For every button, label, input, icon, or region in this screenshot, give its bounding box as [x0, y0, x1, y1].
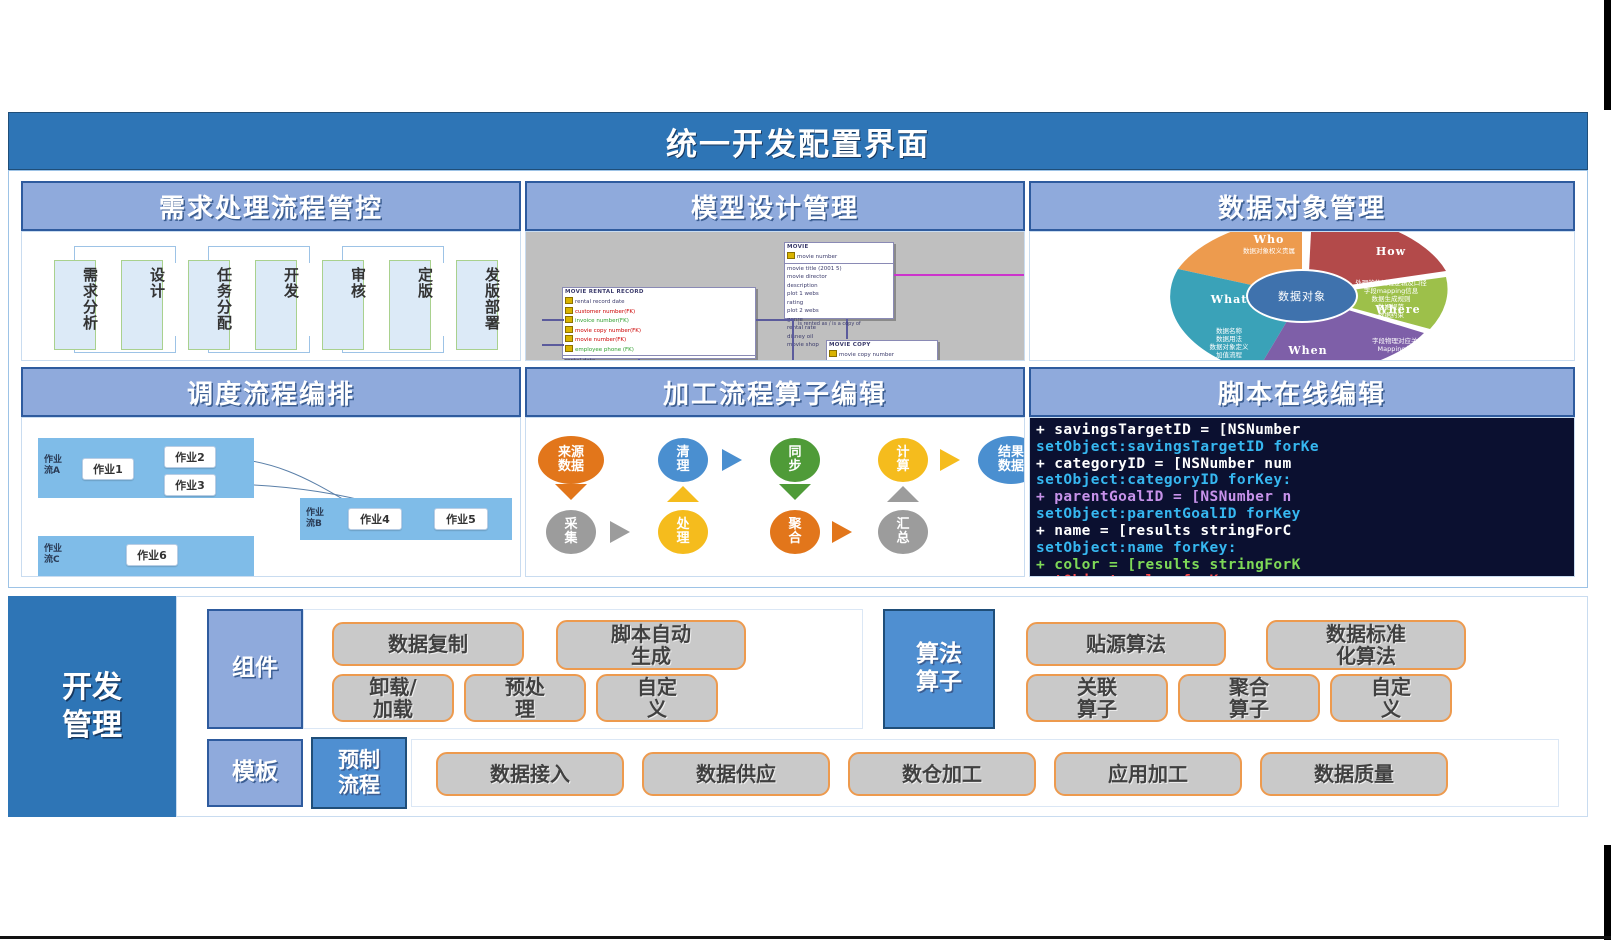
er-entity-movie-rental-record[interactable]: MOVIE RENTAL RECORD rental record date c… — [562, 287, 756, 359]
er-entity-1-field-1: movie director — [787, 273, 891, 282]
job-group-c-label: 作业 流C — [44, 544, 62, 566]
data-object-donut-chart[interactable]: Who 数据对象权义责属 What 数据名称 数据用法 数据对象定义 加值流程 … — [1030, 232, 1574, 360]
code-line-3: setObject:categoryID forKey: — [1036, 472, 1574, 489]
er-entity-movie-copy[interactable]: MOVIE COPY movie copy number movie numbe… — [826, 340, 938, 361]
chip-data-replication[interactable]: 数据复制 — [332, 622, 524, 666]
arrow-right-icon-collect-to-process — [610, 521, 630, 543]
panel-requirement-flow: 需求分析 设计 任务分配 开发 审核 定版 发版部署 — [21, 231, 521, 361]
flow-step-5[interactable]: 定版 — [389, 260, 431, 350]
arrow-down-icon-sync-to-aggregate — [779, 484, 811, 500]
er-entity-1-field-4: rating — [787, 299, 891, 308]
code-line-6: + name = [results stringForC — [1036, 523, 1574, 540]
er-entity-1-field-5: plot 2 webs — [787, 307, 891, 316]
flow-step-0-label: 需求分析 — [55, 267, 97, 331]
code-line-4: + parentGoalID = [NSNumber n — [1036, 489, 1574, 506]
development-management-body: 组件 数据复制 脚本自动 生成 卸载/ 加载 预处 理 自定 义 算法 算子 贴… — [176, 596, 1588, 817]
job-group-a[interactable] — [38, 438, 254, 498]
flow-step-3[interactable]: 开发 — [255, 260, 297, 350]
page-title-text: 统一开发配置界面 — [666, 119, 930, 164]
job-node-a-3[interactable]: 作业3 — [164, 474, 216, 496]
job-group-b-label: 作业 流B — [306, 508, 324, 530]
er-entity-0-key-5: employee phone (FK) — [575, 347, 634, 353]
arrow-up-icon-summary-to-compute — [887, 486, 919, 502]
er-entity-0-key-3: movie copy number(FK) — [575, 328, 641, 334]
flow-step-2[interactable]: 任务分配 — [188, 260, 230, 350]
key-icon — [565, 326, 573, 333]
donut-label-who-cn: 数据对象权义责属 — [1204, 247, 1334, 255]
er-entity-1-field-0: movie title (2001 5) — [787, 265, 891, 274]
key-icon — [565, 316, 573, 323]
operator-node-process[interactable]: 处 理 — [658, 510, 708, 554]
key-icon — [565, 335, 573, 342]
job-node-b-5[interactable]: 作业5 — [434, 508, 488, 530]
category-template[interactable]: 模板 — [207, 739, 303, 807]
chip-data-quality[interactable]: 数据质量 — [1260, 752, 1448, 796]
er-link-vertical-3 — [638, 359, 640, 361]
chip-application-processing[interactable]: 应用加工 — [1054, 752, 1242, 796]
chip-data-ingestion[interactable]: 数据接入 — [436, 752, 624, 796]
er-link-magenta — [894, 274, 1025, 276]
arrow-right-icon-compute-to-result — [940, 449, 960, 471]
panel-schedule-flow: 作业 流A 作业1 作业2 作业3 作业 流B 作业4 作业5 作业 流C 作业… — [21, 417, 521, 577]
panel-header-model-design[interactable]: 模型设计管理 — [525, 181, 1025, 231]
operator-node-clean[interactable]: 清 理 — [658, 438, 708, 482]
category-components-label: 组件 — [232, 655, 278, 683]
job-node-a-1[interactable]: 作业1 — [82, 458, 134, 480]
er-link-left-2 — [542, 344, 564, 346]
er-entity-1-name: MOVIE — [785, 243, 893, 251]
code-editor[interactable]: + savingsTargetID = [NSNumber setObject:… — [1030, 418, 1574, 576]
flow-step-3-label: 开发 — [256, 267, 298, 299]
chip-script-auto-generation[interactable]: 脚本自动 生成 — [556, 620, 746, 670]
panel-model-design: MOVIE RENTAL RECORD rental record date c… — [525, 231, 1025, 361]
algorithm-chip-area: 贴源算法 数据标准 化算法 关联 算子 聚合 算子 自定 义 — [995, 609, 1559, 729]
chip-custom-component[interactable]: 自定 义 — [596, 674, 718, 722]
chip-preprocess[interactable]: 预处 理 — [464, 674, 586, 722]
arrow-up-icon-process-to-clean — [667, 486, 699, 502]
er-link-right-1 — [756, 319, 794, 321]
job-node-a-2[interactable]: 作业2 — [164, 446, 216, 468]
panel-header-schedule-flow[interactable]: 调度流程编排 — [21, 367, 521, 417]
key-icon — [787, 252, 795, 259]
panel-header-model-design-label: 模型设计管理 — [691, 188, 859, 225]
category-algorithm-operators[interactable]: 算法 算子 — [883, 609, 995, 729]
development-management-section: 开发 管理 组件 数据复制 脚本自动 生成 卸载/ 加载 预处 理 自定 义 算… — [8, 596, 1588, 817]
donut-label-how-en: How — [1334, 245, 1448, 259]
flow-step-5-label: 定版 — [390, 267, 432, 299]
key-icon — [565, 297, 573, 304]
chip-source-algorithm[interactable]: 贴源算法 — [1026, 622, 1226, 666]
panel-operator-edit: 来源 数据 清 理 同 步 计 算 结果 数据 采 集 处 理 聚 合 汇 总 — [525, 417, 1025, 577]
code-line-0: + savingsTargetID = [NSNumber — [1036, 422, 1574, 439]
er-edge-label-1: is rented under / records rental of — [762, 360, 846, 361]
panel-header-requirement-flow[interactable]: 需求处理流程管控 — [21, 181, 521, 231]
key-icon — [565, 345, 573, 352]
development-management-label-text: 开发 管理 — [62, 669, 122, 744]
category-template-label: 模板 — [232, 759, 278, 787]
flow-step-4-label: 审核 — [323, 267, 365, 299]
key-icon — [829, 350, 837, 357]
er-entity-0-key-4: movie number(FK) — [575, 337, 626, 343]
flow-step-0[interactable]: 需求分析 — [54, 260, 96, 350]
flow-step-4[interactable]: 审核 — [322, 260, 364, 350]
er-entity-2-name: MOVIE COPY — [827, 341, 937, 349]
chip-data-supply[interactable]: 数据供应 — [642, 752, 830, 796]
panel-header-data-object-label: 数据对象管理 — [1218, 188, 1386, 225]
panel-script-editor: + savingsTargetID = [NSNumber setObject:… — [1029, 417, 1575, 577]
donut-label-when-en: When — [1260, 344, 1356, 358]
category-algorithm-operators-label: 算法 算子 — [916, 641, 962, 696]
category-components[interactable]: 组件 — [207, 609, 303, 729]
operator-node-result-data[interactable]: 结果 数据 — [978, 436, 1025, 484]
panel-header-operator-edit-label: 加工流程算子编辑 — [663, 374, 887, 411]
operator-node-summary[interactable]: 汇 总 — [878, 510, 928, 554]
donut-label-who: Who 数据对象权义责属 — [1204, 233, 1334, 255]
operator-node-source-data[interactable]: 来源 数据 — [538, 436, 604, 484]
flow-step-6-label: 发版部署 — [457, 267, 499, 331]
chip-aggregate-operator[interactable]: 聚合 算子 — [1178, 674, 1320, 722]
arrow-down-icon-source-to-collect — [555, 484, 587, 500]
chip-warehouse-processing[interactable]: 数仓加工 — [848, 752, 1036, 796]
er-entity-1-field-2: description — [787, 282, 891, 291]
components-chip-area: 数据复制 脚本自动 生成 卸载/ 加载 预处 理 自定 义 — [303, 609, 863, 729]
job-node-c-6[interactable]: 作业6 — [126, 544, 178, 566]
er-diagram[interactable]: MOVIE RENTAL RECORD rental record date c… — [526, 232, 1024, 360]
flow-step-6[interactable]: 发版部署 — [456, 260, 498, 350]
right-edge-black-bar-bottom — [1604, 845, 1611, 940]
er-entity-2-key-0: movie copy number — [839, 352, 894, 358]
panel-header-script-editor-label: 脚本在线编辑 — [1218, 374, 1386, 411]
panel-header-schedule-flow-label: 调度流程编排 — [187, 374, 355, 411]
code-line-5: setObject:parentGoalID forKey — [1036, 506, 1574, 523]
key-icon — [565, 307, 573, 314]
slide-deck: 统一开发配置界面 需求处理流程管控 模型设计管理 数据对象管理 需求分析 设计 — [8, 112, 1597, 817]
chip-data-standardization-algorithm[interactable]: 数据标准 化算法 — [1266, 620, 1466, 670]
er-entity-1-key-0: movie number — [797, 254, 837, 260]
er-link-vertical-1 — [792, 319, 794, 361]
er-entity-1-field-3: plot 1 webs — [787, 290, 891, 299]
arrow-right-icon-aggregate-to-summary — [832, 521, 852, 543]
bottom-edge-black-line — [0, 936, 1611, 939]
panel-data-object: Who 数据对象权义责属 What 数据名称 数据用法 数据对象定义 加值流程 … — [1029, 231, 1575, 361]
donut-center-label: 数据对象 — [1278, 288, 1326, 304]
er-entity-0-name: MOVIE RENTAL RECORD — [563, 288, 755, 296]
operator-node-collect[interactable]: 采 集 — [546, 510, 596, 554]
er-link-left-1 — [542, 319, 564, 321]
er-entity-0-key-1: customer number(FK) — [575, 309, 635, 315]
chip-custom-operator[interactable]: 自定 义 — [1330, 674, 1452, 722]
page-title: 统一开发配置界面 — [8, 112, 1588, 170]
chip-unload-load[interactable]: 卸载/ 加载 — [332, 674, 454, 722]
subcategory-preset-flow-label: 预制 流程 — [338, 748, 380, 798]
template-chip-area: 数据接入 数据供应 数仓加工 应用加工 数据质量 — [411, 739, 1559, 807]
panel-header-script-editor[interactable]: 脚本在线编辑 — [1029, 367, 1575, 417]
operator-node-aggregate[interactable]: 聚 合 — [770, 510, 820, 554]
development-management-label: 开发 管理 — [8, 596, 176, 817]
code-line-8: + color = [results stringForK — [1036, 557, 1574, 574]
er-edge-label-0: is rented as / is a copy of — [798, 321, 861, 329]
code-line-2: + categoryID = [NSNumber num — [1036, 456, 1574, 473]
er-entity-0-key-0: rental record date — [575, 299, 625, 305]
chip-join-operator[interactable]: 关联 算子 — [1026, 674, 1168, 722]
flow-step-1[interactable]: 设计 — [121, 260, 163, 350]
flow-step-1-label: 设计 — [122, 267, 164, 299]
flow-step-2-label: 任务分配 — [189, 267, 231, 331]
panel-header-data-object[interactable]: 数据对象管理 — [1029, 181, 1575, 231]
code-line-1: setObject:savingsTargetID forKe — [1036, 439, 1574, 456]
operator-node-sync[interactable]: 同 步 — [770, 438, 820, 482]
panel-header-requirement-flow-label: 需求处理流程管控 — [159, 188, 383, 225]
donut-center-hub: 数据对象 — [1246, 269, 1358, 323]
panel-header-operator-edit[interactable]: 加工流程算子编辑 — [525, 367, 1025, 417]
operator-node-compute[interactable]: 计 算 — [878, 438, 928, 482]
right-edge-black-bar-top — [1604, 0, 1611, 110]
donut-label-who-en: Who — [1204, 233, 1334, 247]
code-line-9: setObject:color forKey: — [1036, 573, 1574, 576]
er-entity-movie[interactable]: MOVIE movie number movie title (2001 5) … — [784, 242, 894, 319]
er-entity-0-field-0: rental date — [565, 357, 753, 361]
job-node-b-4[interactable]: 作业4 — [348, 508, 402, 530]
code-line-7: setObject:name forKey: — [1036, 540, 1574, 557]
er-entity-0-key-2: invoice number(FK) — [575, 318, 629, 324]
arrow-right-icon-clean-to-sync — [722, 449, 742, 471]
job-group-a-label: 作业 流A — [44, 455, 62, 477]
upper-panel-frame: 需求处理流程管控 模型设计管理 数据对象管理 需求分析 设计 任务分配 开发 — [8, 170, 1588, 588]
subcategory-preset-flow[interactable]: 预制 流程 — [311, 737, 407, 809]
